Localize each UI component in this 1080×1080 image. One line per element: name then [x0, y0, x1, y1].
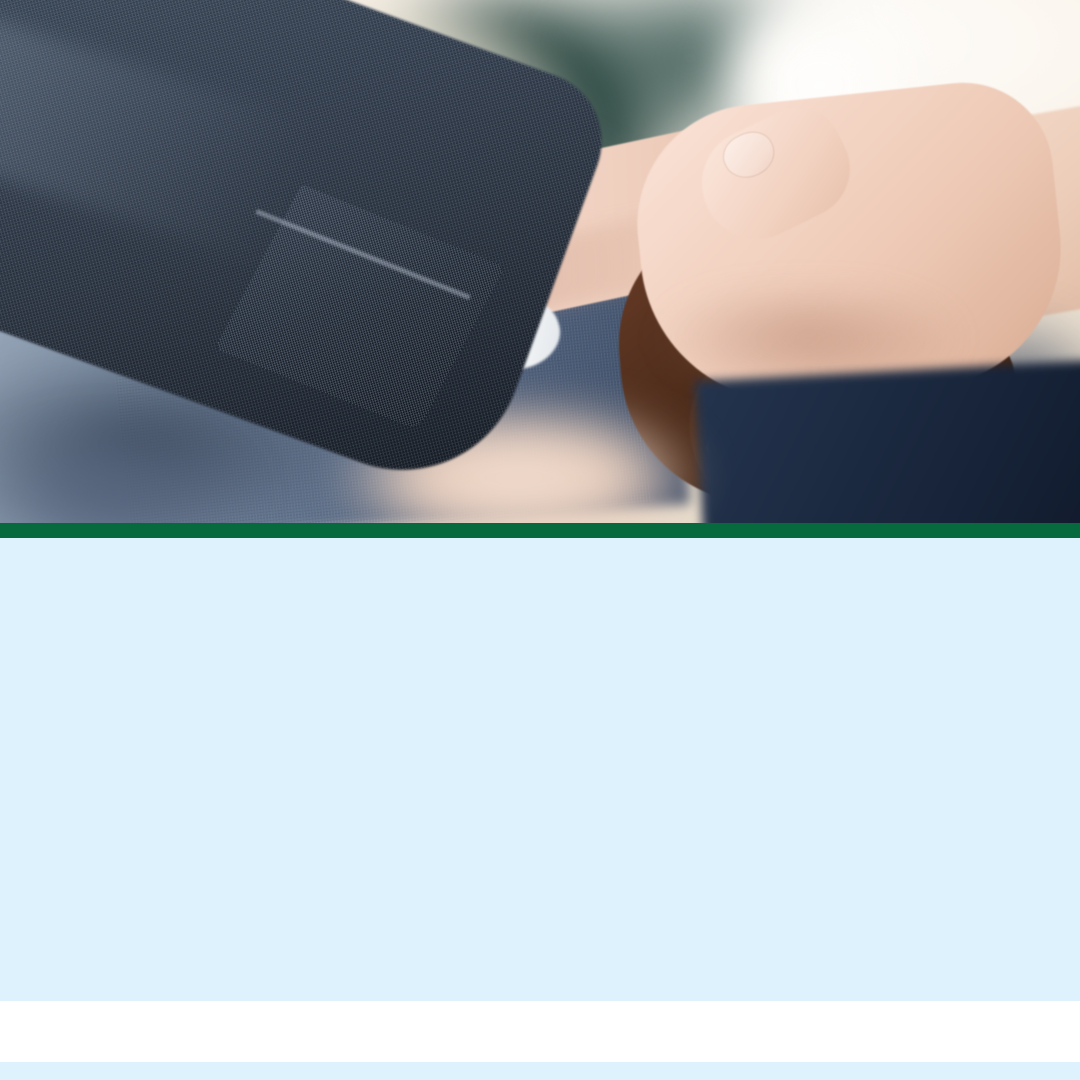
hero-photo: [0, 0, 1080, 523]
social-post-card: Have Compassion and Extend Grace Recogni…: [0, 0, 1080, 1080]
white-footer-band: [0, 1001, 1080, 1062]
green-divider-bar: [0, 523, 1080, 538]
content-panel: Have Compassion and Extend Grace Recogni…: [0, 538, 1080, 1001]
photo-vignette: [0, 0, 1080, 523]
bottom-blue-band: [0, 1062, 1080, 1080]
